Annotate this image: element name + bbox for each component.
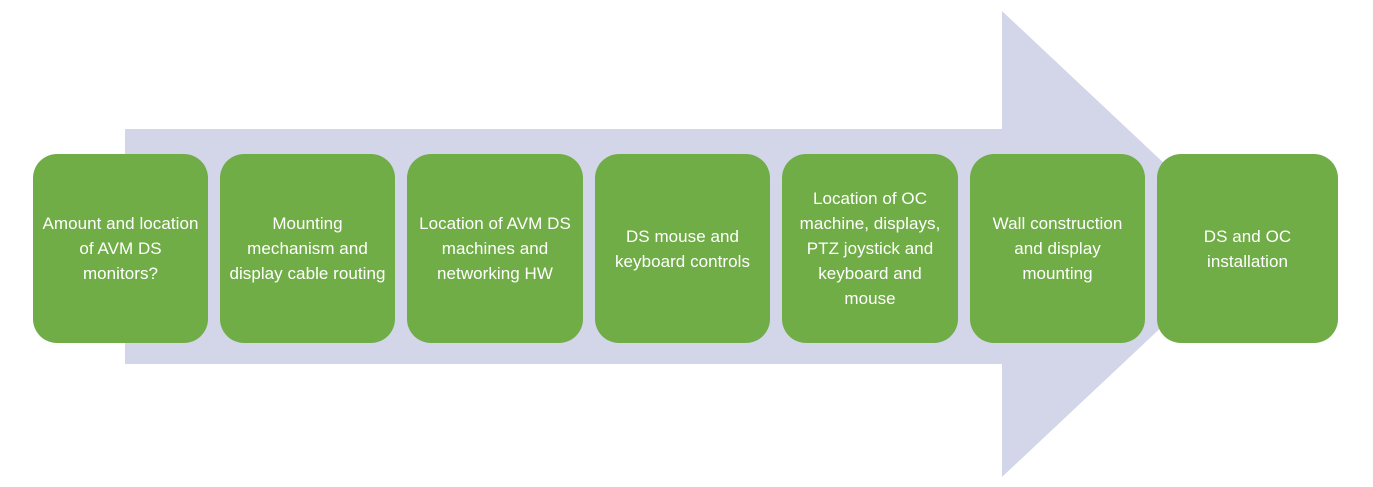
process-step-2[interactable]: Mounting mechanism and display cable rou… (220, 154, 395, 343)
process-step-2-label: Mounting mechanism and display cable rou… (229, 211, 386, 286)
process-step-7-label: DS and OC installation (1166, 224, 1329, 274)
process-step-5[interactable]: Location of OC machine, displays, PTZ jo… (782, 154, 958, 343)
process-step-7[interactable]: DS and OC installation (1157, 154, 1338, 343)
process-step-4-label: DS mouse and keyboard controls (604, 224, 761, 274)
process-step-6[interactable]: Wall construction and display mounting (970, 154, 1145, 343)
diagram-canvas: Amount and location of AVM DS monitors? … (0, 0, 1373, 487)
process-step-5-label: Location of OC machine, displays, PTZ jo… (791, 186, 949, 311)
process-step-3-label: Location of AVM DS machines and networki… (416, 211, 574, 286)
process-step-1-label: Amount and location of AVM DS monitors? (42, 211, 199, 286)
process-step-1[interactable]: Amount and location of AVM DS monitors? (33, 154, 208, 343)
process-step-6-label: Wall construction and display mounting (979, 211, 1136, 286)
process-step-4[interactable]: DS mouse and keyboard controls (595, 154, 770, 343)
process-step-3[interactable]: Location of AVM DS machines and networki… (407, 154, 583, 343)
process-step-list: Amount and location of AVM DS monitors? … (0, 0, 1373, 487)
